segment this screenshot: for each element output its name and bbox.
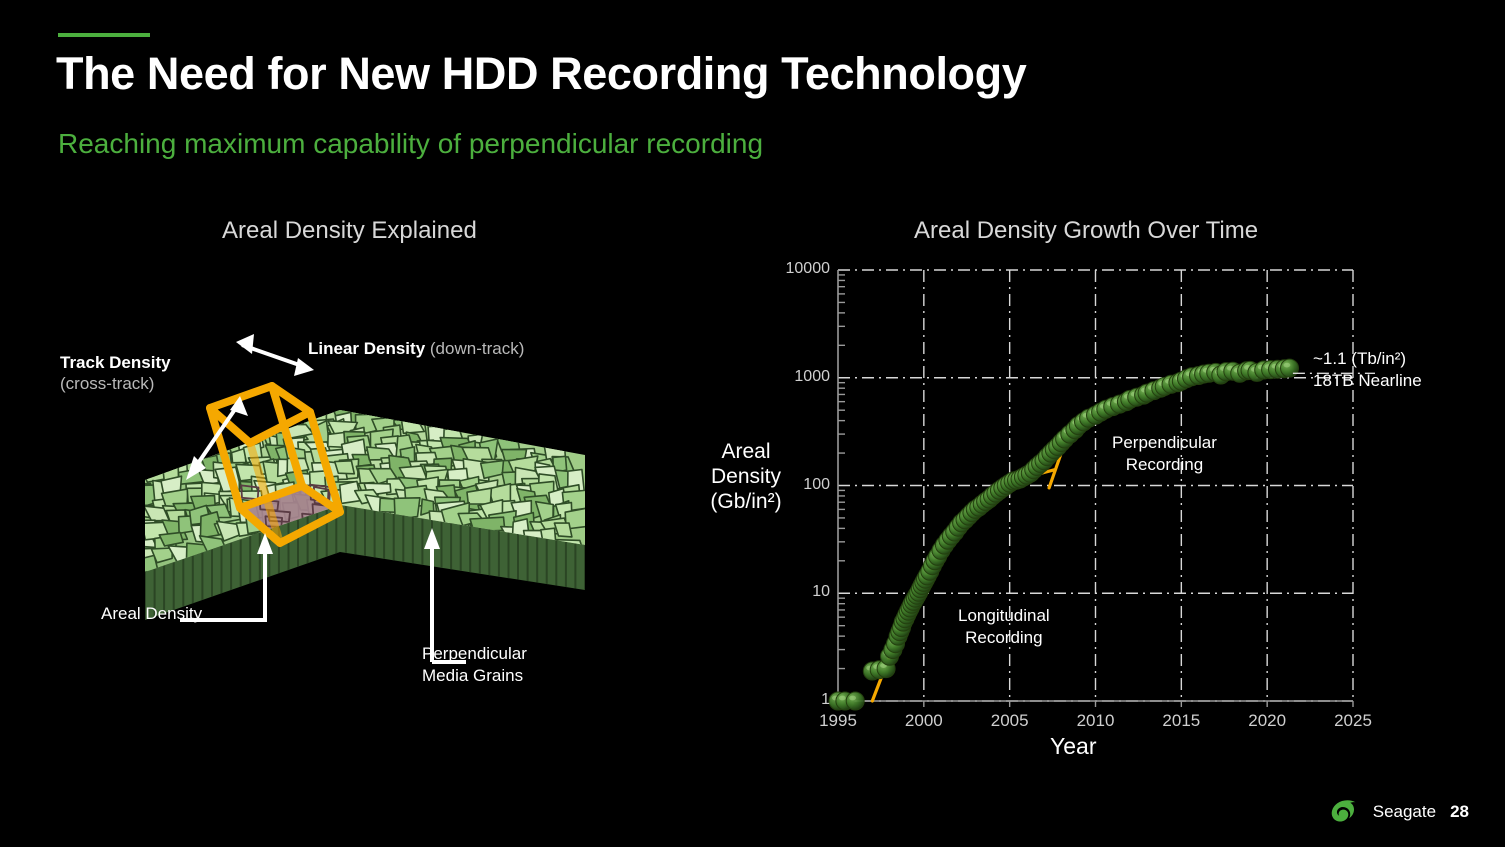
right-panel-heading: Areal Density Growth Over Time: [914, 217, 1258, 245]
track-density-main: Track Density: [60, 353, 171, 372]
page-number: 28: [1450, 802, 1469, 822]
x-tick-label: 2025: [1323, 711, 1383, 731]
chart-gridlines: [838, 270, 1353, 701]
label-areal-density: Areal Density: [101, 603, 202, 624]
label-media-grains: Perpendicular Media Grains: [422, 643, 527, 687]
y-tick-label: 10000: [770, 260, 830, 278]
y-tick-label: 100: [770, 476, 830, 494]
track-density-sub: (cross-track): [60, 374, 154, 393]
media-grains-line2: Media Grains: [422, 666, 523, 685]
x-tick-label: 2000: [894, 711, 954, 731]
accent-rule: [58, 33, 150, 37]
slide-footer: Seagate 28: [1329, 799, 1469, 825]
y-tick-label: 1: [770, 691, 830, 709]
label-track-density: Track Density (cross-track): [60, 352, 171, 395]
media-grains-line1: Perpendicular: [422, 644, 527, 663]
x-tick-label: 2015: [1151, 711, 1211, 731]
annotation-longitudinal-recording: Longitudinal Recording: [958, 605, 1050, 649]
seagate-swirl-icon: [1329, 799, 1359, 825]
page-title: The Need for New HDD Recording Technolog…: [56, 48, 1026, 100]
chart-x-axis-label: Year: [1050, 733, 1096, 760]
anno-perp-line2: Recording: [1126, 455, 1204, 474]
x-tick-label: 2005: [980, 711, 1040, 731]
left-panel-heading: Areal Density Explained: [222, 217, 477, 245]
y-tick-label: 10: [770, 583, 830, 601]
y-label-line1: Areal: [721, 440, 770, 463]
anno-perp-line1: Perpendicular: [1112, 433, 1217, 452]
data-point: [1281, 359, 1299, 377]
annotation-capacity-callout: ~1.1 (Tb/in²) 18TB Nearline: [1313, 348, 1422, 392]
linear-density-arrow: [236, 334, 314, 376]
brand-name: Seagate: [1373, 802, 1436, 822]
y-tick-label: 1000: [770, 368, 830, 386]
slide-root: The Need for New HDD Recording Technolog…: [0, 0, 1505, 847]
page-subtitle: Reaching maximum capability of perpendic…: [58, 128, 763, 160]
longitudinal-trend: [872, 470, 1054, 701]
label-linear-density: Linear Density (down-track): [308, 338, 524, 359]
linear-density-sub: (down-track): [430, 339, 524, 358]
data-point: [846, 692, 864, 710]
x-tick-label: 2010: [1066, 711, 1126, 731]
x-tick-label: 1995: [808, 711, 868, 731]
chart-data-points: [829, 359, 1299, 710]
anno-long-line1: Longitudinal: [958, 606, 1050, 625]
anno-cap-line1: ~1.1 (Tb/in²): [1313, 349, 1406, 368]
x-tick-label: 2020: [1237, 711, 1297, 731]
linear-density-main: Linear Density: [308, 339, 425, 358]
anno-cap-line2: 18TB Nearline: [1313, 371, 1422, 390]
annotation-perpendicular-recording: Perpendicular Recording: [1112, 432, 1217, 476]
anno-long-line2: Recording: [965, 628, 1043, 647]
